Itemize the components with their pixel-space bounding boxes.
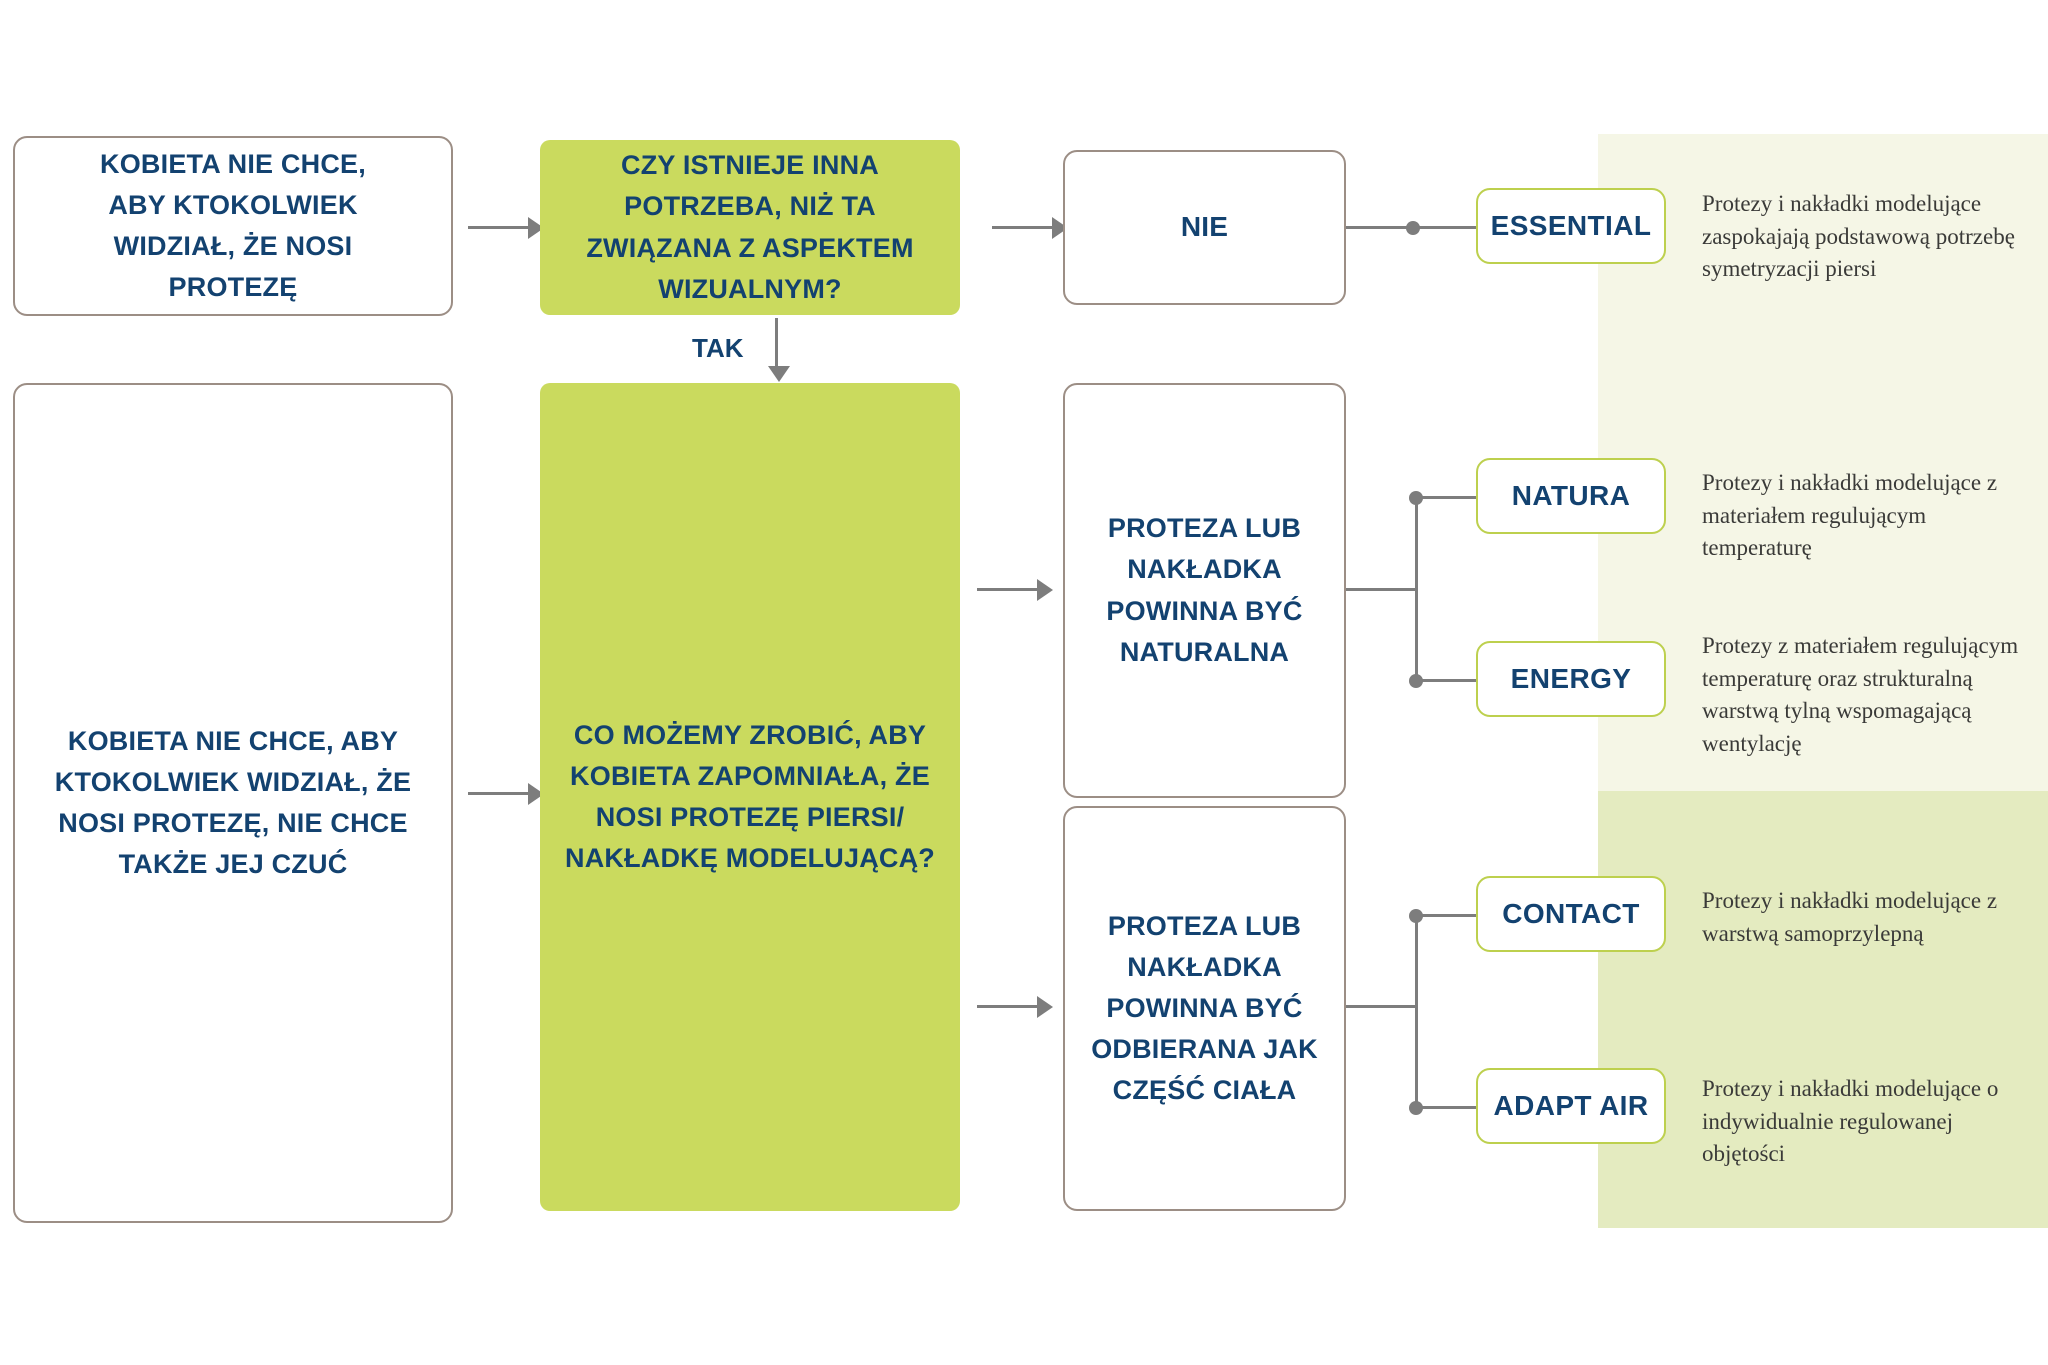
- outcome-box-czesc-ciala-label: PROTEZA LUB NAKŁADKA POWINNA BYĆ ODBIERA…: [1085, 906, 1325, 1111]
- product-description-adapt-air: Protezy i nakładki modelujące o indywidu…: [1702, 1073, 2032, 1171]
- product-pill-energy[interactable]: ENERGY: [1476, 641, 1666, 717]
- connector-czesc-ciala-contact: [1415, 914, 1485, 917]
- arrowhead-question2-outcome-naturalna: [1037, 579, 1053, 601]
- edge-label-tak: TAK: [692, 333, 744, 364]
- connector-question2-outcome-czesc-ciala: [977, 1005, 1039, 1008]
- connector-question2-outcome-naturalna: [977, 588, 1039, 591]
- scenario-box-1-label: KOBIETA NIE CHCE, ABY KTOKOLWIEK WIDZIAŁ…: [68, 144, 398, 308]
- outcome-box-nie-label: NIE: [1181, 206, 1228, 249]
- question-box-2-label: CO MOŻEMY ZROBIĆ, ABY KOBIETA ZAPOMNIAŁA…: [558, 715, 943, 879]
- junction-dot-contact: [1409, 909, 1423, 923]
- outcome-box-naturalna-label: PROTEZA LUB NAKŁADKA POWINNA BYĆ NATURAL…: [1085, 508, 1325, 672]
- product-description-energy: Protezy z materiałem regulującym tempera…: [1702, 630, 2032, 761]
- connector-czesc-ciala-adapt-air: [1415, 1106, 1485, 1109]
- product-pill-natura-label: NATURA: [1512, 480, 1631, 512]
- question-box-1[interactable]: CZY ISTNIEJE INNA POTRZEBA, NIŻ TA ZWIĄZ…: [540, 140, 960, 315]
- junction-dot-energy: [1409, 674, 1423, 688]
- outcome-box-naturalna[interactable]: PROTEZA LUB NAKŁADKA POWINNA BYĆ NATURAL…: [1063, 383, 1346, 798]
- connector-question1-question2: [775, 318, 778, 368]
- product-pill-adapt-air[interactable]: ADAPT AIR: [1476, 1068, 1666, 1144]
- product-description-contact: Protezy i nakładki modelujące z warstwą …: [1702, 885, 2032, 950]
- connector-question1-outcome-nie: [992, 226, 1054, 229]
- junction-dot-essential: [1406, 221, 1420, 235]
- scenario-box-2-label: KOBIETA NIE CHCE, ABY KTOKOLWIEK WIDZIAŁ…: [53, 721, 413, 885]
- junction-dot-adapt-air: [1409, 1101, 1423, 1115]
- outcome-box-nie[interactable]: NIE: [1063, 150, 1346, 305]
- connector-naturalna-natura: [1415, 496, 1485, 499]
- product-description-essential: Protezy i nakładki modelujące zaspokajaj…: [1702, 188, 2022, 286]
- product-pill-contact-label: CONTACT: [1502, 898, 1640, 930]
- outcome-box-czesc-ciala[interactable]: PROTEZA LUB NAKŁADKA POWINNA BYĆ ODBIERA…: [1063, 806, 1346, 1211]
- arrowhead-question1-question2: [768, 366, 790, 382]
- product-pill-essential[interactable]: ESSENTIAL: [1476, 188, 1666, 264]
- connector-naturalna-spine: [1415, 496, 1418, 682]
- flowchart-canvas: KOBIETA NIE CHCE, ABY KTOKOLWIEK WIDZIAŁ…: [0, 0, 2048, 1365]
- connector-czesc-ciala-stem: [1346, 1005, 1418, 1008]
- scenario-box-1[interactable]: KOBIETA NIE CHCE, ABY KTOKOLWIEK WIDZIAŁ…: [13, 136, 453, 316]
- product-description-natura: Protezy i nakładki modelujące z materiał…: [1702, 467, 2022, 565]
- product-pill-natura[interactable]: NATURA: [1476, 458, 1666, 534]
- product-pill-contact[interactable]: CONTACT: [1476, 876, 1666, 952]
- arrowhead-question2-outcome-czesc-ciala: [1037, 996, 1053, 1018]
- connector-naturalna-stem: [1346, 588, 1418, 591]
- junction-dot-natura: [1409, 491, 1423, 505]
- question-box-2[interactable]: CO MOŻEMY ZROBIĆ, ABY KOBIETA ZAPOMNIAŁA…: [540, 383, 960, 1211]
- product-pill-energy-label: ENERGY: [1511, 663, 1632, 695]
- connector-naturalna-energy: [1415, 679, 1485, 682]
- product-pill-adapt-air-label: ADAPT AIR: [1493, 1090, 1648, 1122]
- connector-czesc-ciala-spine: [1415, 914, 1418, 1109]
- connector-scenario1-question1: [468, 226, 530, 229]
- question-box-1-label: CZY ISTNIEJE INNA POTRZEBA, NIŻ TA ZWIĄZ…: [558, 145, 943, 309]
- product-pill-essential-label: ESSENTIAL: [1491, 210, 1652, 242]
- connector-scenario2-question2: [468, 792, 530, 795]
- scenario-box-2[interactable]: KOBIETA NIE CHCE, ABY KTOKOLWIEK WIDZIAŁ…: [13, 383, 453, 1223]
